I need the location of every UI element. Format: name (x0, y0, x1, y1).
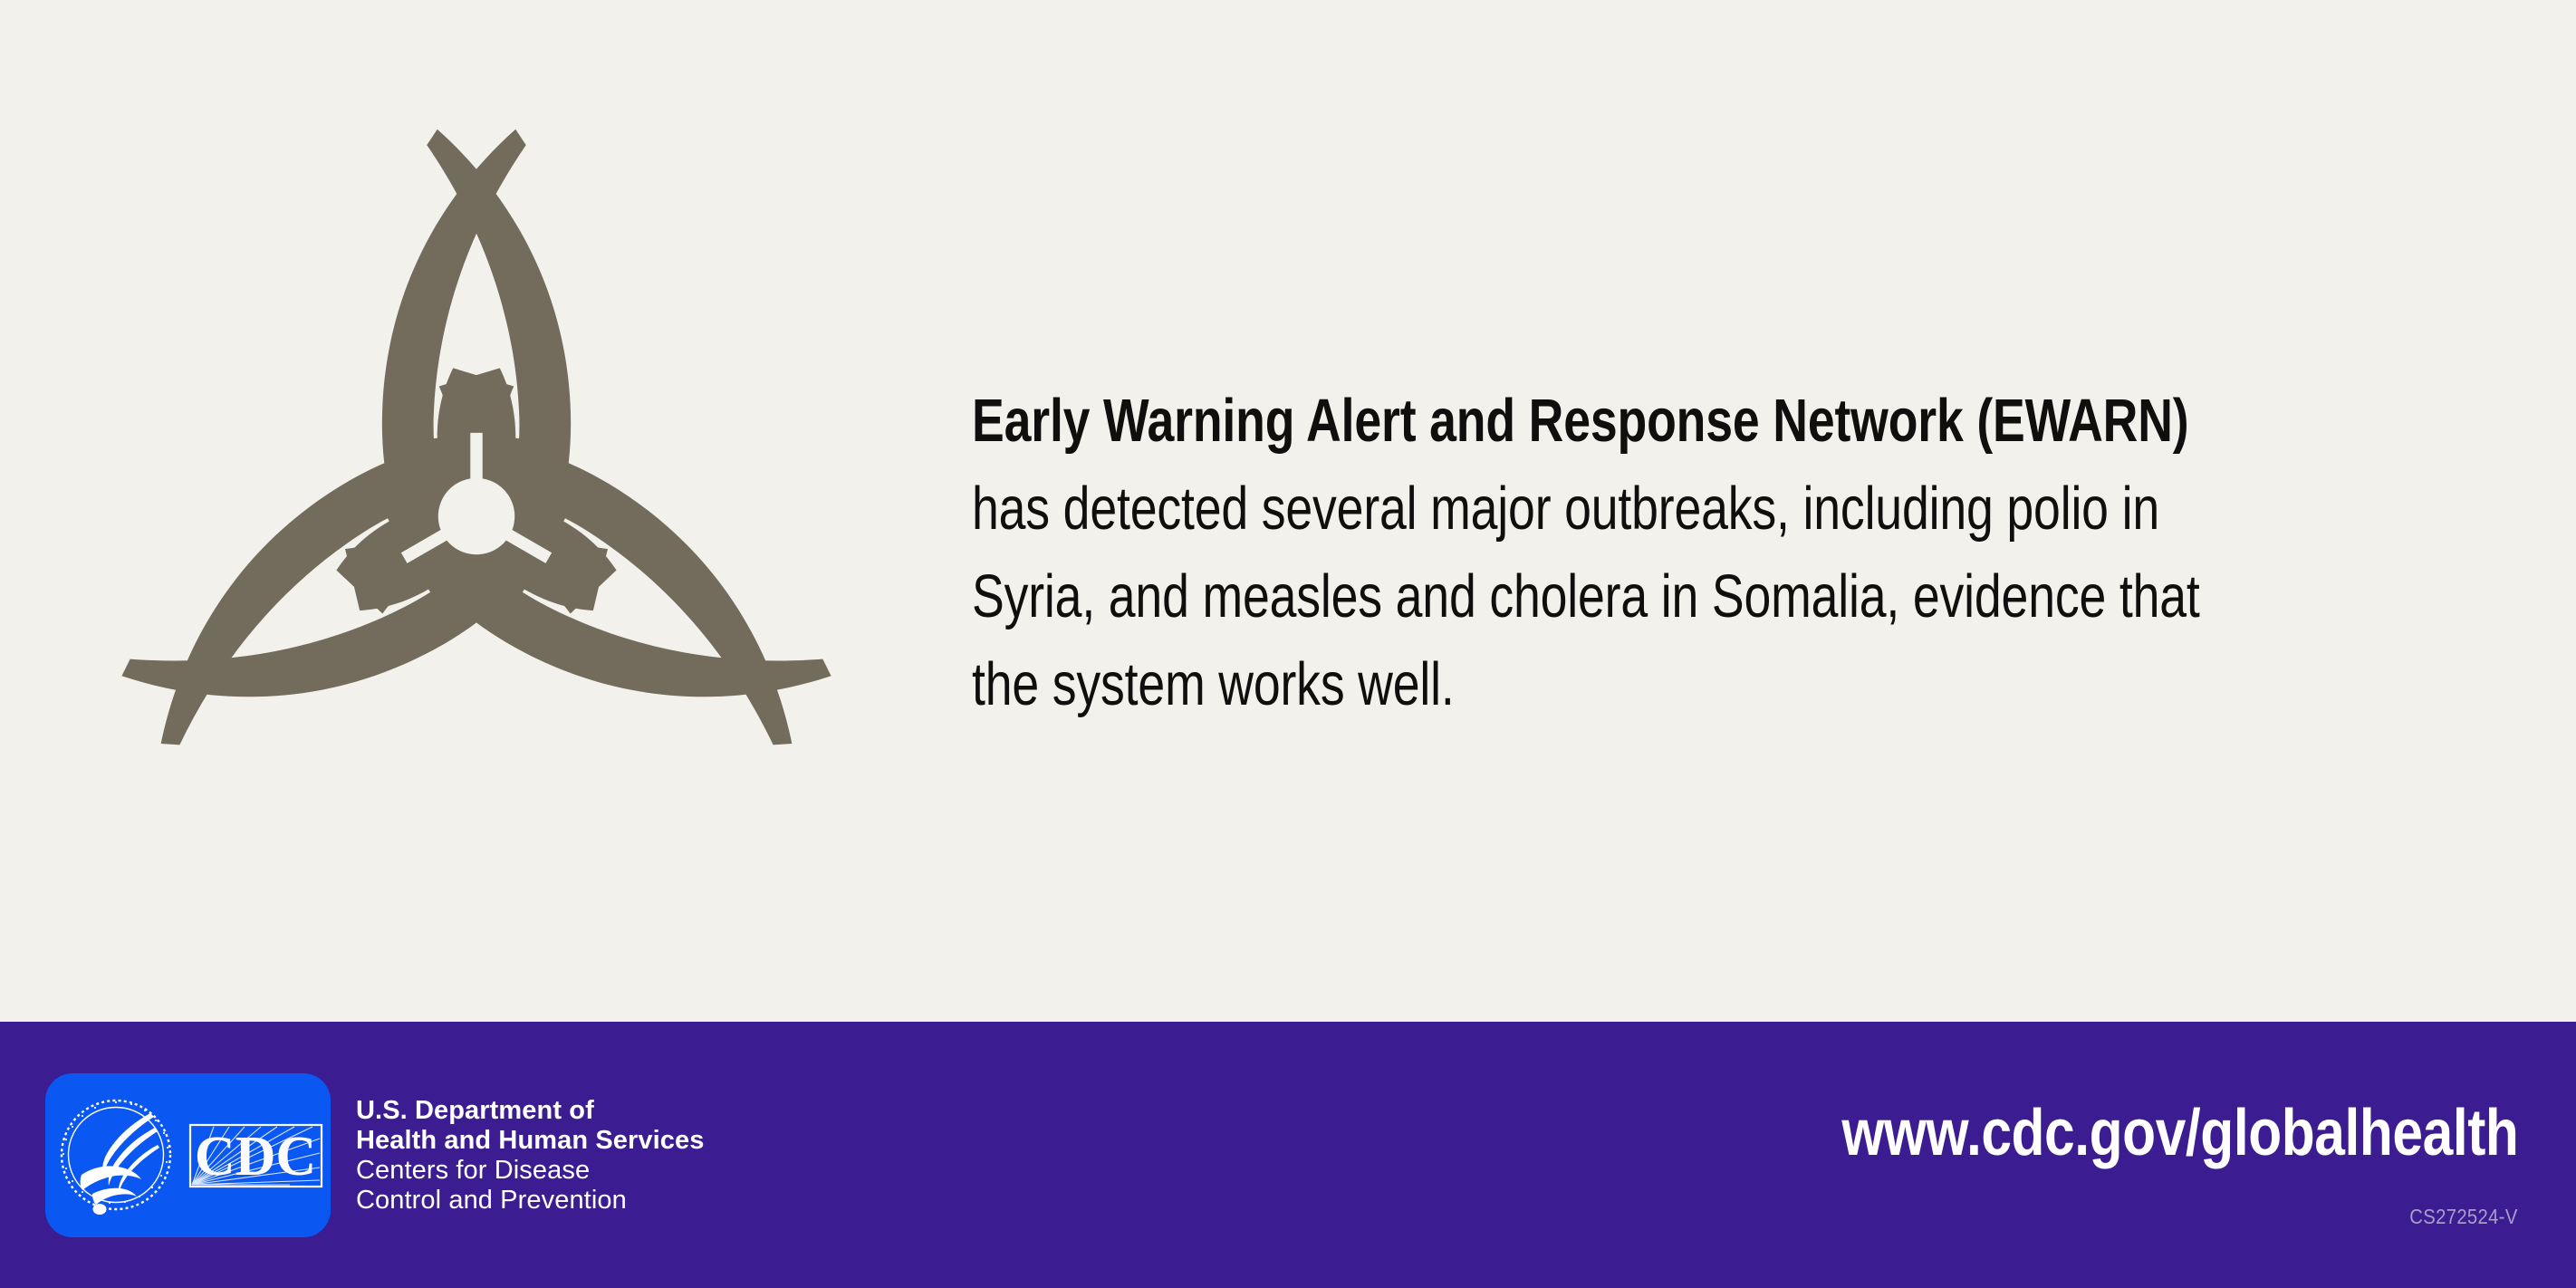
cdc-logo-lockup[interactable]: CDC U.S. Department of Health and Human … (45, 1073, 704, 1237)
agency-line-4: Control and Prevention (356, 1186, 704, 1216)
message-line-1: Early Warning Alert and Response Network… (972, 377, 2196, 465)
agency-name-block: U.S. Department of Health and Human Serv… (356, 1096, 704, 1216)
publication-code: CS272524-V (2410, 1205, 2518, 1228)
poster-canvas: Early Warning Alert and Response Network… (0, 0, 2576, 1288)
agency-line-3: Centers for Disease (356, 1156, 704, 1186)
website-url[interactable]: www.cdc.gov/globalhealth (1841, 1099, 2518, 1168)
cdc-hhs-logo-badge[interactable]: CDC (45, 1073, 331, 1237)
agency-line-2: Health and Human Services (356, 1126, 704, 1156)
biohazard-symbol (33, 82, 920, 951)
message-block: Early Warning Alert and Response Network… (972, 377, 2503, 728)
message-line-2: has detected several major outbreaks, in… (972, 465, 2196, 553)
agency-line-1: U.S. Department of (356, 1096, 704, 1126)
message-line-3: Syria, and measles and cholera in Somali… (972, 553, 2196, 640)
cdc-wordmark: CDC (195, 1126, 316, 1187)
message-line-4: the system works well. (972, 640, 2196, 728)
hero-panel: Early Warning Alert and Response Network… (0, 0, 2576, 1022)
